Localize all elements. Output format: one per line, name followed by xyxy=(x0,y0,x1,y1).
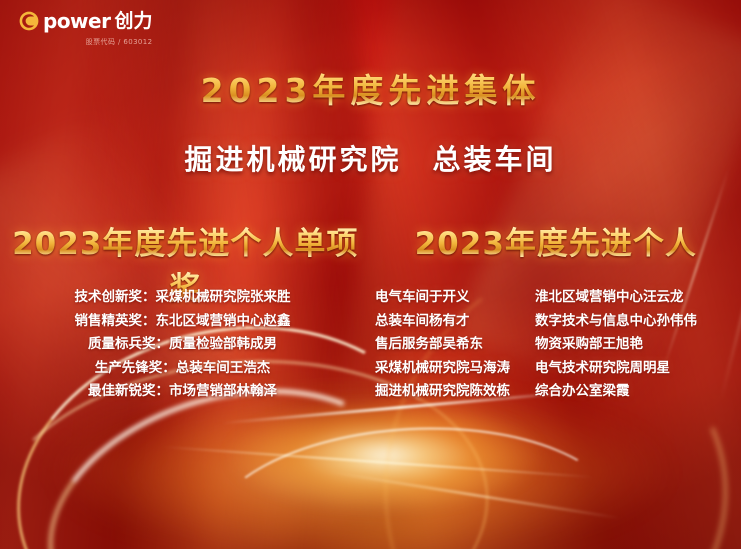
list-item: 掘进机械研究院陈效栋 综合办公室梁霞 xyxy=(375,380,741,404)
collective-winners: 掘进机械研究院 总装车间 xyxy=(0,138,741,178)
winner-name: 物资采购部王旭艳 xyxy=(535,333,643,357)
award-poster: power 创力 股票代码 / 603012 2023年度先进集体 掘进机械研究… xyxy=(0,0,741,549)
logo-stock-code: 股票代码 / 603012 xyxy=(18,37,152,47)
poster-content: 2023年度先进集体 掘进机械研究院 总装车间 2023年度先进个人单项奖 20… xyxy=(0,0,741,549)
winner-name: 掘进机械研究院陈效栋 xyxy=(375,380,535,404)
winner-name: 总装车间杨有才 xyxy=(375,310,535,334)
list-item: 总装车间杨有才 数字技术与信息中心孙伟伟 xyxy=(375,310,741,334)
list-item: 质量标兵奖：质量检验部韩成男 xyxy=(20,333,345,357)
list-item: 电气车间于开义 淮北区域营销中心汪云龙 xyxy=(375,286,741,310)
winner-name: 电气技术研究院周明星 xyxy=(535,357,670,381)
list-item: 技术创新奖：采煤机械研究院张来胜 xyxy=(20,286,345,310)
logo-wordmark: power xyxy=(43,10,110,32)
winner-name: 电气车间于开义 xyxy=(375,286,535,310)
winner-name: 采煤机械研究院马海涛 xyxy=(375,357,535,381)
c-power-logo-icon xyxy=(18,10,40,32)
list-item: 采煤机械研究院马海涛 电气技术研究院周明星 xyxy=(375,357,741,381)
winner-lists: 技术创新奖：采煤机械研究院张来胜 销售精英奖：东北区域营销中心赵鑫 质量标兵奖：… xyxy=(0,286,741,404)
winner-name: 淮北区域营销中心汪云龙 xyxy=(535,286,684,310)
page-title: 2023年度先进集体 xyxy=(0,64,741,112)
list-item: 销售精英奖：东北区域营销中心赵鑫 xyxy=(20,310,345,334)
winner-name: 数字技术与信息中心孙伟伟 xyxy=(535,310,697,334)
special-award-list: 技术创新奖：采煤机械研究院张来胜 销售精英奖：东北区域营销中心赵鑫 质量标兵奖：… xyxy=(0,286,345,404)
list-item: 生产先锋奖：总装车间王浩杰 xyxy=(20,357,345,381)
company-logo: power 创力 股票代码 / 603012 xyxy=(18,10,152,47)
winner-name: 售后服务部吴希东 xyxy=(375,333,535,357)
logo-chinese-name: 创力 xyxy=(114,10,152,32)
list-item: 售后服务部吴希东 物资采购部王旭艳 xyxy=(375,333,741,357)
award-heading-individual: 2023年度先进个人 xyxy=(415,226,697,262)
individual-award-list: 电气车间于开义 淮北区域营销中心汪云龙 总装车间杨有才 数字技术与信息中心孙伟伟… xyxy=(345,286,741,404)
winner-name: 综合办公室梁霞 xyxy=(535,380,630,404)
list-item: 最佳新锐奖：市场营销部林翰泽 xyxy=(20,380,345,404)
logo-row: power 创力 xyxy=(18,10,152,32)
